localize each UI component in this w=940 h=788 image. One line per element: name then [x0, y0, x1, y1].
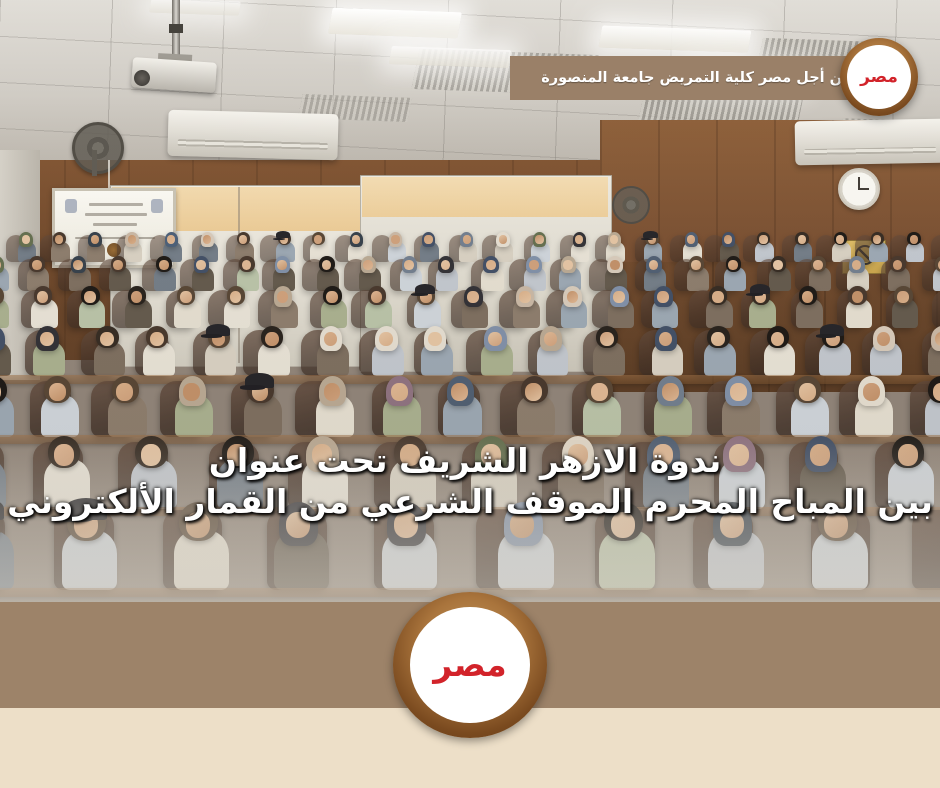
- audience-member-face: [591, 383, 608, 401]
- air-conditioner: [167, 110, 338, 160]
- audience-member-face: [687, 235, 695, 244]
- audience-member-face: [519, 291, 531, 303]
- wall-fan-arm: [92, 150, 97, 176]
- audience-member-cap: [820, 324, 844, 336]
- logo-calligraphy: مصر: [860, 69, 898, 85]
- audience-member-face: [49, 383, 66, 401]
- logo-inner-disc: طلاب مصر كلية التمريض - جامعة المنصورة: [410, 607, 530, 724]
- audience-member-face: [326, 291, 338, 303]
- audience-member-face: [428, 332, 442, 347]
- audience-member-face: [463, 235, 471, 244]
- audience-member-torso: [0, 530, 14, 590]
- audience-member-cap: [415, 284, 435, 294]
- audience-member-face: [499, 235, 507, 244]
- audience-member-face: [150, 332, 164, 347]
- audience-member-face: [91, 235, 99, 244]
- audience-member-face: [852, 291, 864, 303]
- audience-member-face: [613, 291, 625, 303]
- air-conditioner: [795, 119, 940, 166]
- audience-member-face: [525, 383, 542, 401]
- audience-member-face: [712, 291, 724, 303]
- audience-member-face: [662, 383, 679, 401]
- audience-member-torso: [0, 299, 9, 328]
- audience-member-face: [180, 291, 192, 303]
- window-blind: [362, 177, 608, 217]
- wall-fan: [72, 122, 124, 174]
- audience-member-face: [798, 235, 806, 244]
- audience-member-face: [391, 235, 399, 244]
- audience-member-face: [863, 383, 880, 401]
- audience-member-face: [575, 235, 583, 244]
- audience-member-face: [610, 260, 620, 270]
- audience-member-face: [728, 260, 738, 270]
- audience-member-face: [467, 291, 479, 303]
- audience-member-face: [196, 260, 206, 270]
- certificate-text-line: [85, 213, 147, 216]
- audience-member-face: [40, 332, 54, 347]
- audience-member-cap: [245, 373, 274, 388]
- certificate-emblem: [65, 199, 77, 213]
- logo-calligraphy-main: مصر: [433, 645, 506, 684]
- audience-member-face: [363, 260, 373, 270]
- ceiling-light-panel: [328, 8, 462, 39]
- logo-calligraphy: مصر: [433, 649, 506, 680]
- audience-member-face: [657, 291, 669, 303]
- poster-canvas: طلاب من أجل مصر كلية التمريض جامعة المنص…: [0, 0, 940, 788]
- audience-member-face: [183, 383, 200, 401]
- auditorium-seat: [932, 290, 940, 328]
- certificate-emblem: [151, 199, 163, 213]
- audience-member-face: [265, 332, 279, 347]
- logo-bottom-label: كلية التمريض - جامعة المنصورة: [847, 99, 911, 104]
- audience: [0, 230, 940, 602]
- audience-member-face: [159, 260, 169, 270]
- audience-member-face: [22, 235, 30, 244]
- poster-title: ندوة الازهر الشريف تحت عنوان بين المباح …: [0, 440, 940, 523]
- audience-member-face: [567, 291, 579, 303]
- audience-member-face: [451, 383, 468, 401]
- audience-member-face: [100, 332, 114, 347]
- certificate-text-line: [89, 203, 143, 206]
- audience-member-face: [230, 291, 242, 303]
- audience-member-face: [600, 332, 614, 347]
- audience-member-face: [529, 260, 539, 270]
- audience-member-face: [759, 235, 767, 244]
- logo-top-label: طلاب: [847, 49, 911, 54]
- audience-member-face: [277, 260, 287, 270]
- audience-member-face: [730, 383, 747, 401]
- certificate-text-line: [93, 223, 137, 226]
- audience-member-cap: [750, 284, 770, 294]
- wall-clock: [838, 168, 880, 210]
- audience-member-face: [73, 260, 83, 270]
- projector-mount-rod: [172, 0, 180, 62]
- audience-member-face: [897, 291, 909, 303]
- logo-calligraphy-main: مصر: [860, 67, 898, 87]
- audience-member-face: [424, 235, 432, 244]
- logo-top-label: طلاب: [410, 615, 530, 624]
- audience-member-face: [379, 332, 393, 347]
- audience-member-cap: [206, 324, 230, 336]
- title-line-2: بين المباح المحرم الموقف الشرعي من القما…: [0, 481, 940, 522]
- audience-member-cap: [643, 231, 657, 238]
- audience-member-cap: [276, 231, 290, 238]
- audience-member-face: [203, 235, 211, 244]
- audience-member-face: [314, 235, 322, 244]
- audience-member-face: [799, 383, 816, 401]
- organization-logo-top: طلاب مصر كلية التمريض - جامعة المنصورة: [840, 38, 918, 116]
- logo-inner-disc: طلاب مصر كلية التمريض - جامعة المنصورة: [847, 45, 911, 109]
- audience-member-face: [873, 235, 881, 244]
- audience-member-face: [535, 235, 543, 244]
- audience-member-face: [610, 235, 618, 244]
- audience-member-face: [116, 383, 133, 401]
- audience-member-face: [391, 383, 408, 401]
- audience-member-face: [910, 235, 918, 244]
- audience-member-face: [324, 383, 341, 401]
- audience-member-face: [84, 291, 96, 303]
- audience-member-face: [711, 332, 725, 347]
- wall-fan-secondary: [612, 186, 650, 224]
- audience-member-face: [128, 235, 136, 244]
- organization-logo-bottom: طلاب مصر كلية التمريض - جامعة المنصورة: [393, 592, 547, 738]
- audience-member-face: [32, 260, 42, 270]
- title-line-1: ندوة الازهر الشريف تحت عنوان: [0, 440, 940, 481]
- audience-member-torso: [0, 395, 14, 436]
- audience-member-face: [486, 260, 496, 270]
- logo-bottom-label: كلية التمريض - جامعة المنصورة: [410, 706, 530, 714]
- audience-member-face: [488, 332, 502, 347]
